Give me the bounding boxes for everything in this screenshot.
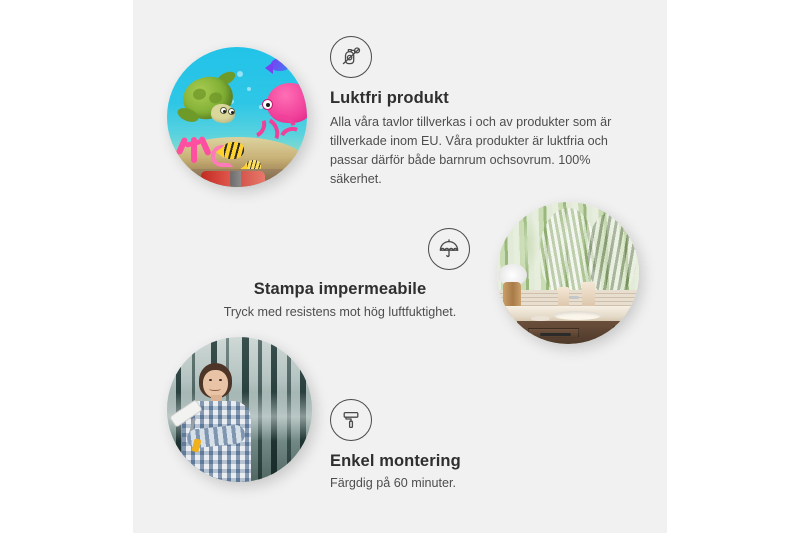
striped-fish bbox=[222, 142, 244, 159]
paint-roller-icon bbox=[330, 399, 372, 441]
feature-description: Tryck med resistens mot hög luftfuktighe… bbox=[195, 303, 485, 322]
octopus-eye bbox=[262, 99, 273, 110]
pink-coral bbox=[175, 129, 215, 163]
floor-strip bbox=[167, 169, 307, 187]
feature-description: Alla våra tavlor tillverkas i och av pro… bbox=[330, 113, 626, 190]
bubble-icon bbox=[247, 87, 251, 91]
feature-title: Enkel montering bbox=[330, 452, 590, 471]
drawer-handle bbox=[540, 333, 571, 336]
forest-scene bbox=[167, 337, 312, 482]
bathroom-scene bbox=[497, 202, 639, 344]
feature-odour-free: Luktfri produkt Alla våra tavlor tillver… bbox=[330, 36, 630, 190]
woman-paint-roller-forest-photo[interactable] bbox=[167, 337, 312, 482]
underwater-scene bbox=[167, 47, 307, 187]
feature-easy-mounting: Enkel montering Färgdig på 60 minuter. bbox=[330, 399, 590, 493]
sink-basin bbox=[554, 311, 601, 320]
toiletry-bottle bbox=[558, 287, 569, 307]
bathroom-vanity-photo[interactable] bbox=[497, 202, 639, 344]
no-fragrance-icon bbox=[330, 36, 372, 78]
feature-description: Färgdig på 60 minuter. bbox=[330, 474, 590, 493]
feature-title: Stampa impermeabile bbox=[195, 280, 485, 299]
cabinet-handle bbox=[613, 326, 616, 342]
turtle-eye bbox=[220, 107, 227, 114]
bubble-icon bbox=[237, 71, 243, 77]
feature-waterproof-print: Stampa impermeabile Tryck med resistens … bbox=[195, 228, 485, 322]
underwater-kids-mural-photo[interactable] bbox=[167, 47, 307, 187]
woman-smile bbox=[209, 386, 221, 390]
feature-title: Luktfri produkt bbox=[330, 89, 630, 108]
toiletry-bottle bbox=[582, 282, 595, 308]
turtle-eye bbox=[228, 108, 235, 115]
umbrella-icon bbox=[428, 228, 470, 270]
screenshot-root: Luktfri produkt Alla våra tavlor tillver… bbox=[0, 0, 800, 533]
woman-face bbox=[203, 370, 228, 398]
purple-fish bbox=[271, 58, 290, 71]
